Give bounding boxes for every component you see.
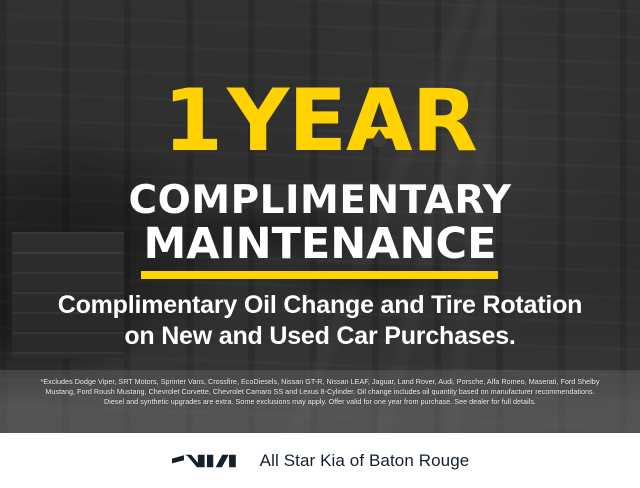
yellow-divider-rule [141, 271, 498, 279]
disclaimer-line-3: Diesel and synthetic upgrades are extra.… [10, 397, 630, 407]
offer-line-2: on New and Used Car Purchases. [0, 321, 640, 352]
headline-year-word-ye: YE [227, 71, 346, 171]
letter-a-glyph: A [346, 71, 412, 171]
disclaimer-line-2: Mustang, Ford Roush Mustang, Chevrolet C… [10, 387, 630, 397]
promo-banner: 1YEAR COMPLIMENTARY MAINTENANCE Complime… [0, 0, 640, 433]
headline-year-letter-a: A [346, 78, 412, 164]
headline-one-year: 1YEAR [0, 78, 640, 164]
headline-year-word-r: R [412, 71, 477, 171]
disclaimer-line-1: *Excludes Dodge Viper, SRT Motors, Sprin… [10, 377, 630, 387]
headline-year-number: 1 [163, 71, 227, 171]
offer-description: Complimentary Oil Change and Tire Rotati… [0, 290, 640, 352]
kia-logo [171, 449, 243, 473]
headline-maintenance: MAINTENANCE [0, 224, 640, 265]
banner-content: 1YEAR COMPLIMENTARY MAINTENANCE Complime… [0, 0, 640, 433]
dealer-name: All Star Kia of Baton Rouge [260, 451, 470, 471]
offer-line-1: Complimentary Oil Change and Tire Rotati… [0, 290, 640, 321]
headline-complimentary: COMPLIMENTARY [0, 180, 640, 221]
dealer-footer: All Star Kia of Baton Rouge [0, 433, 640, 488]
disclaimer-text: *Excludes Dodge Viper, SRT Motors, Sprin… [10, 377, 630, 407]
